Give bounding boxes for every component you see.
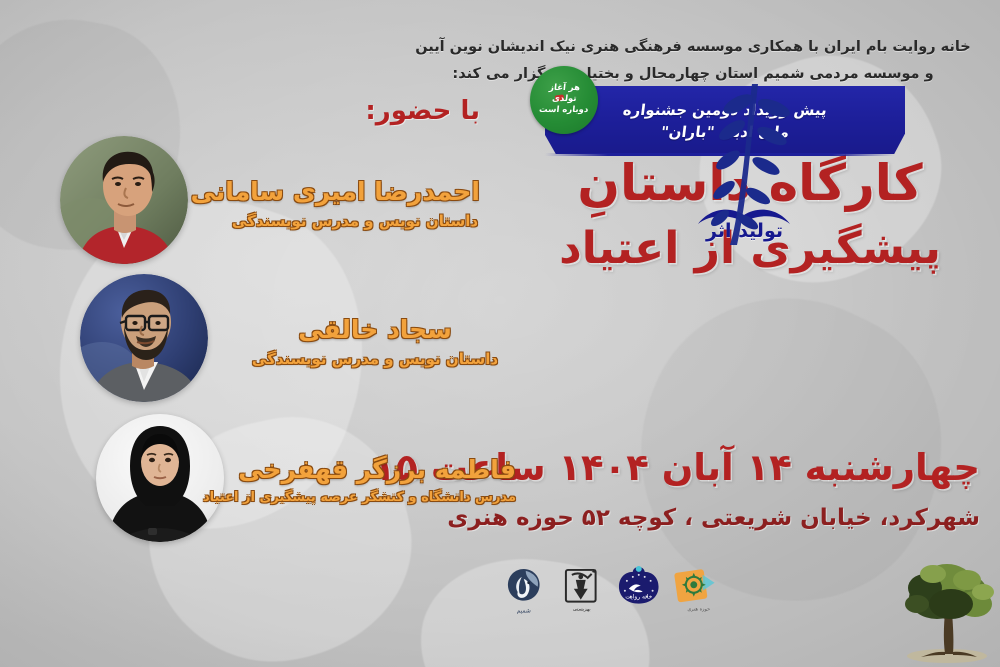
logo-shamim: شمیم — [500, 563, 548, 617]
green-slogan-badge: هر آغاز تولدی دوباره است — [530, 66, 598, 134]
banner-underline — [545, 153, 895, 156]
title-main-line: کارگاه داستانِ — [520, 158, 980, 209]
badge-line-2: تولدی — [551, 95, 576, 105]
speaker-name: احمدرضا امیری سامانی — [230, 178, 480, 207]
speaker-row: فاطمه برزگر قهفرخی مدرس دانشگاه و کنشگر … — [96, 414, 526, 554]
speaker-photo-3 — [96, 414, 224, 542]
avatar — [80, 274, 208, 402]
organizer-line-1: خانه روایت بام ایران با همکاری موسسه فره… — [408, 34, 978, 61]
speaker-text: فاطمه برزگر قهفرخی مدرس دانشگاه و کنشگر … — [266, 456, 516, 505]
event-date: چهارشنبه ۱۴ آبان ۱۴۰۴ ساعت ۱۵ — [530, 446, 980, 489]
organizer-header: خانه روایت بام ایران با همکاری موسسه فره… — [408, 34, 978, 88]
event-poster: خانه روایت بام ایران با همکاری موسسه فره… — [0, 0, 1000, 667]
main-title: کارگاه داستانِ تولید اثر پیشگیری از اعتی… — [520, 158, 980, 271]
khane-ravayat-logo-icon: خانه روایت — [615, 563, 663, 616]
speaker-name: سجاد خالقی — [250, 316, 500, 345]
event-address: شهرکرد، خیابان شریعتی ، کوچه ۵۲ حوزه هنر… — [530, 505, 980, 531]
badge-line-1: هر آغاز — [548, 84, 580, 94]
avatar — [60, 136, 188, 264]
speaker-text: احمدرضا امیری سامانی داستان نویس و مدرس … — [230, 178, 480, 230]
logo-honari-orange: حوزه هنری — [673, 563, 721, 617]
orange-square-logo-icon: حوزه هنری — [673, 563, 721, 616]
svg-text:بهزیستی: بهزیستی — [572, 607, 590, 613]
svg-text:خانه روایت: خانه روایت — [625, 594, 652, 601]
speaker-role: داستان نویس و مدرس نویسندگی — [250, 350, 500, 368]
badge-line-3: دوباره است — [539, 106, 589, 116]
behzisti-logo-icon: بهزیستی — [558, 563, 606, 616]
logo-behzisti: بهزیستی — [558, 563, 606, 617]
speakers-section: با حضور: — [60, 96, 490, 566]
speaker-photo-1 — [60, 136, 188, 264]
speaker-row: احمدرضا امیری سامانی داستان نویس و مدرس … — [60, 136, 490, 276]
tree-illustration — [895, 552, 1000, 664]
organizer-line-2: و موسسه مردمی شمیم استان چهارمحال و بختی… — [408, 61, 978, 88]
festival-banner — [545, 86, 905, 154]
speaker-text: سجاد خالقی داستان نویس و مدرس نویسندگی — [250, 316, 500, 368]
svg-text:شمیم: شمیم — [517, 607, 531, 614]
avatar — [96, 414, 224, 542]
title-middle-line: تولید اثر — [706, 220, 783, 242]
shamim-dove-logo-icon: شمیم — [500, 563, 548, 616]
speaker-role: مدرس دانشگاه و کنشگر عرصه پیشگیری از اعت… — [266, 490, 516, 505]
speaker-row: سجاد خالقی داستان نویس و مدرس نویسندگی — [80, 274, 510, 414]
sponsor-logos: حوزه هنری خانه روایت — [500, 563, 720, 621]
speaker-name: فاطمه برزگر قهفرخی — [266, 456, 516, 485]
with-presence-label: با حضور: — [365, 96, 480, 126]
logo-khane-ravayat: خانه روایت — [615, 563, 663, 617]
speaker-role: داستان نویس و مدرس نویسندگی — [230, 212, 480, 230]
speaker-photo-2 — [80, 274, 208, 402]
svg-text:حوزه هنری: حوزه هنری — [687, 607, 710, 613]
